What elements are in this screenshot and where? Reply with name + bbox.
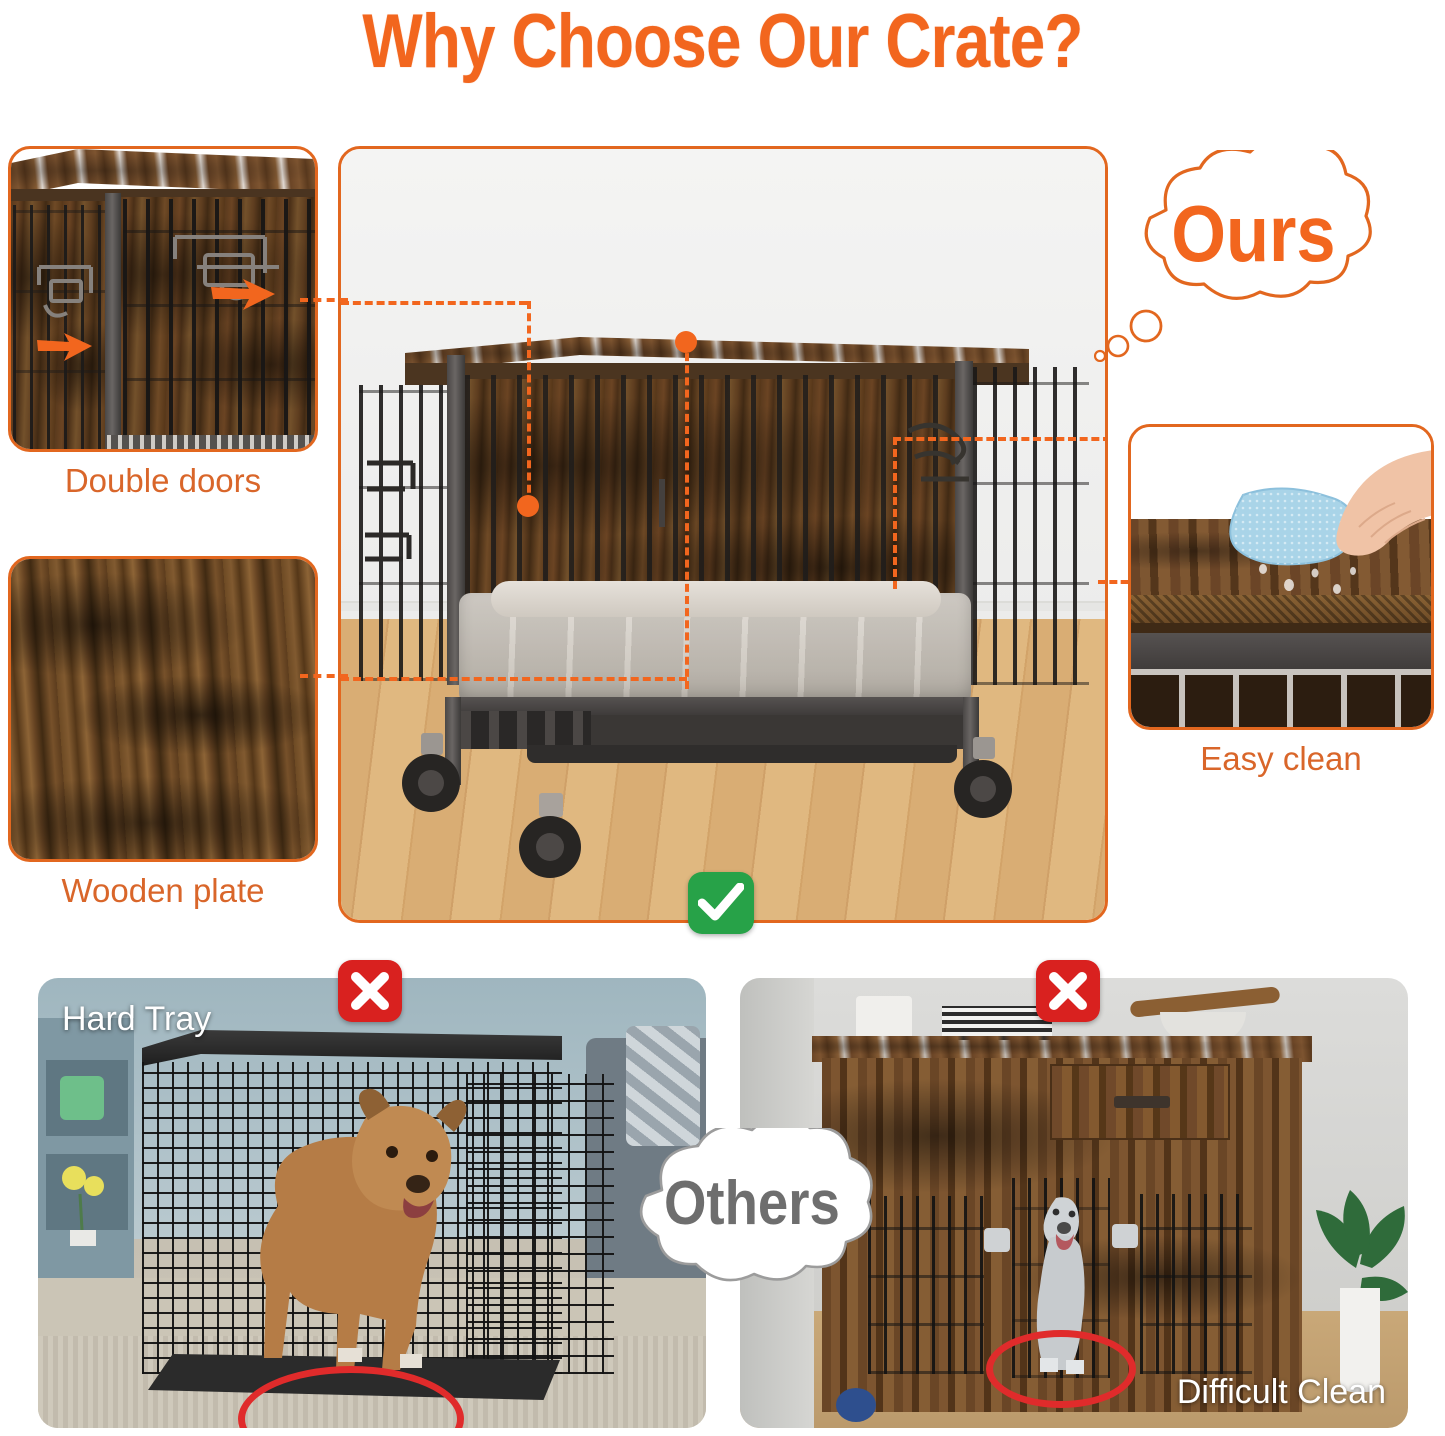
hard-tray-label: Hard Tray [62,1000,211,1039]
connector-line-top-drop [527,301,531,505]
connector-line-topboard [685,341,689,689]
problem-highlight-ellipse [986,1330,1136,1408]
ours-label: Ours [1171,188,1335,280]
feature-panel-wooden-plate [8,556,318,862]
side-latch-icon [359,449,431,609]
page-title: Why Choose Our Crate? [116,2,1330,82]
brown-dog-icon [218,1086,488,1384]
hand-icon [1313,443,1434,563]
caster-wheel-icon [397,733,471,819]
hard-tray-cross-badge [338,960,402,1022]
connector-line-clean-drop [893,437,897,589]
caster-wheel-icon [513,793,591,885]
connector-line-wood [341,677,687,681]
potted-plant-icon [1306,1138,1408,1408]
check-icon [698,883,744,923]
connector-line-top [341,301,527,305]
main-product-panel [338,146,1108,923]
caption-double-doors: Double doors [8,462,318,500]
difficult-clean-cross-badge [1036,960,1100,1022]
hand-wiping-tabletop-icon [1131,427,1431,727]
connector-dot-doors [517,495,539,517]
connector-dot-topboard [675,331,697,353]
feature-panel-easy-clean [1128,424,1434,730]
others-label: Others [664,1168,840,1239]
infographic-root: Why Choose Our Crate? [0,0,1445,1436]
flower-vase-icon [50,1160,120,1250]
rustic-dog-crate-end-table-icon [341,149,1105,920]
caption-easy-clean: Easy clean [1128,740,1434,778]
verdict-check-badge [688,872,754,934]
caster-wheel-icon [947,737,1023,825]
cross-icon [1047,970,1089,1012]
arrow-pointer-icon [209,277,279,313]
ours-bubble-tail-icon [1094,306,1180,362]
water-droplets-icon [1249,559,1369,609]
cross-icon [349,970,391,1012]
difficult-clean-label: Difficult Clean [1177,1373,1386,1412]
arrow-pointer-icon [35,331,95,363]
connector-stub-wood [300,674,348,678]
caption-wooden-plate: Wooden plate [8,872,318,910]
connector-line-clean [893,437,1108,441]
crate-double-door-closeup-icon [11,149,315,449]
rustic-wood-texture-swatch-icon [11,559,315,859]
door-latch-icon [161,207,291,337]
connector-stub-doors [300,298,348,302]
right-door-latch-icon [891,409,1001,529]
feature-panel-double-doors [8,146,318,452]
